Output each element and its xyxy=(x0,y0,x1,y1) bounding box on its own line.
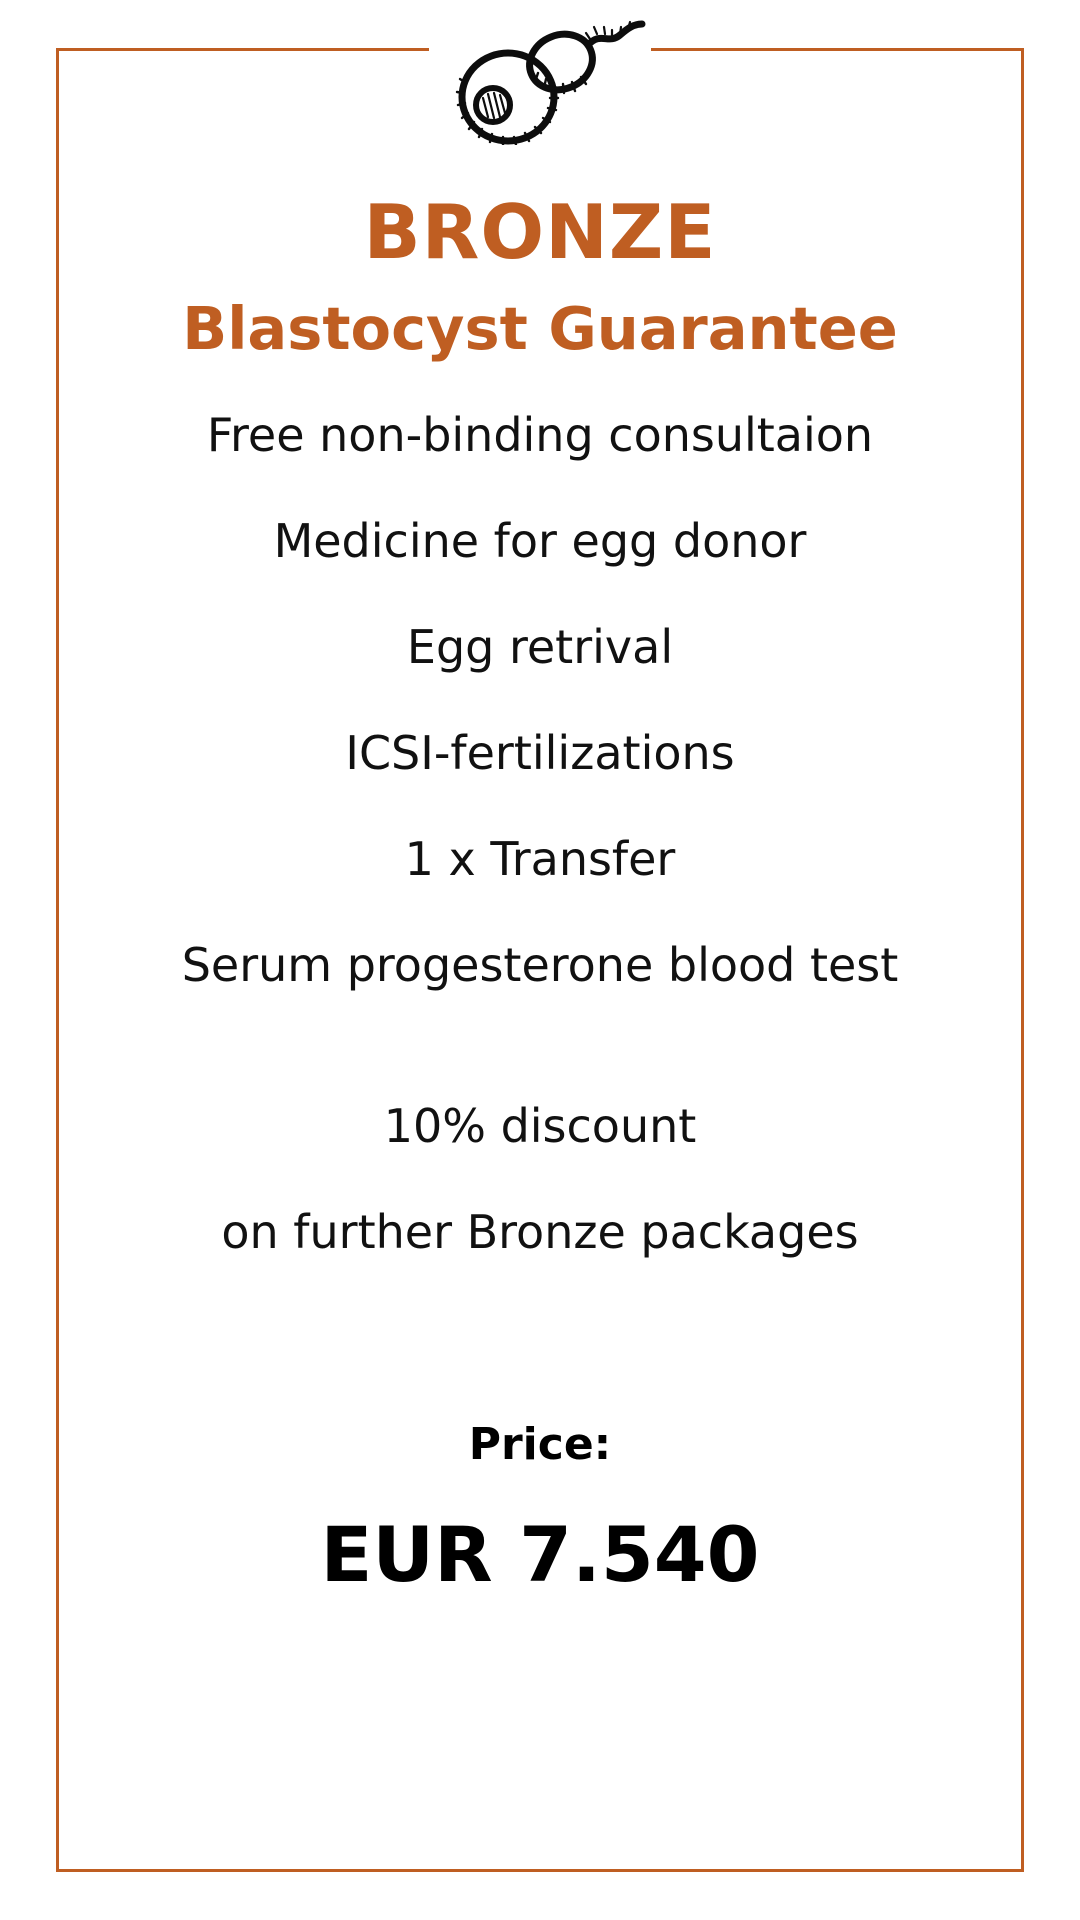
list-item: Egg retrival xyxy=(59,624,1021,670)
list-item: ICSI-fertilizations xyxy=(59,730,1021,776)
discount-block: 10% discount on further Bronze packages xyxy=(59,1103,1021,1255)
price-label: Price: xyxy=(59,1423,1021,1467)
list-item: 1 x Transfer xyxy=(59,836,1021,882)
card-subtitle: Blastocyst Guarantee xyxy=(182,298,898,360)
feature-list: Free non-binding consultaion Medicine fo… xyxy=(59,360,1021,988)
price-block: Price: EUR 7.540 xyxy=(59,1423,1021,1593)
card-content: BRONZE Blastocyst Guarantee Free non-bin… xyxy=(59,51,1021,1869)
discount-amount: 10% discount xyxy=(59,1103,1021,1149)
list-item: Medicine for egg donor xyxy=(59,518,1021,564)
egg-and-sperm-icon xyxy=(430,5,650,145)
pricing-card: BRONZE Blastocyst Guarantee Free non-bin… xyxy=(56,48,1024,1872)
list-item: Serum progesterone blood test xyxy=(59,942,1021,988)
pricing-card-page: BRONZE Blastocyst Guarantee Free non-bin… xyxy=(0,0,1080,1920)
price-value: EUR 7.540 xyxy=(59,1517,1021,1593)
discount-detail: on further Bronze packages xyxy=(59,1209,1021,1255)
list-item: Free non-binding consultaion xyxy=(59,412,1021,458)
page-title: BRONZE xyxy=(363,195,716,270)
